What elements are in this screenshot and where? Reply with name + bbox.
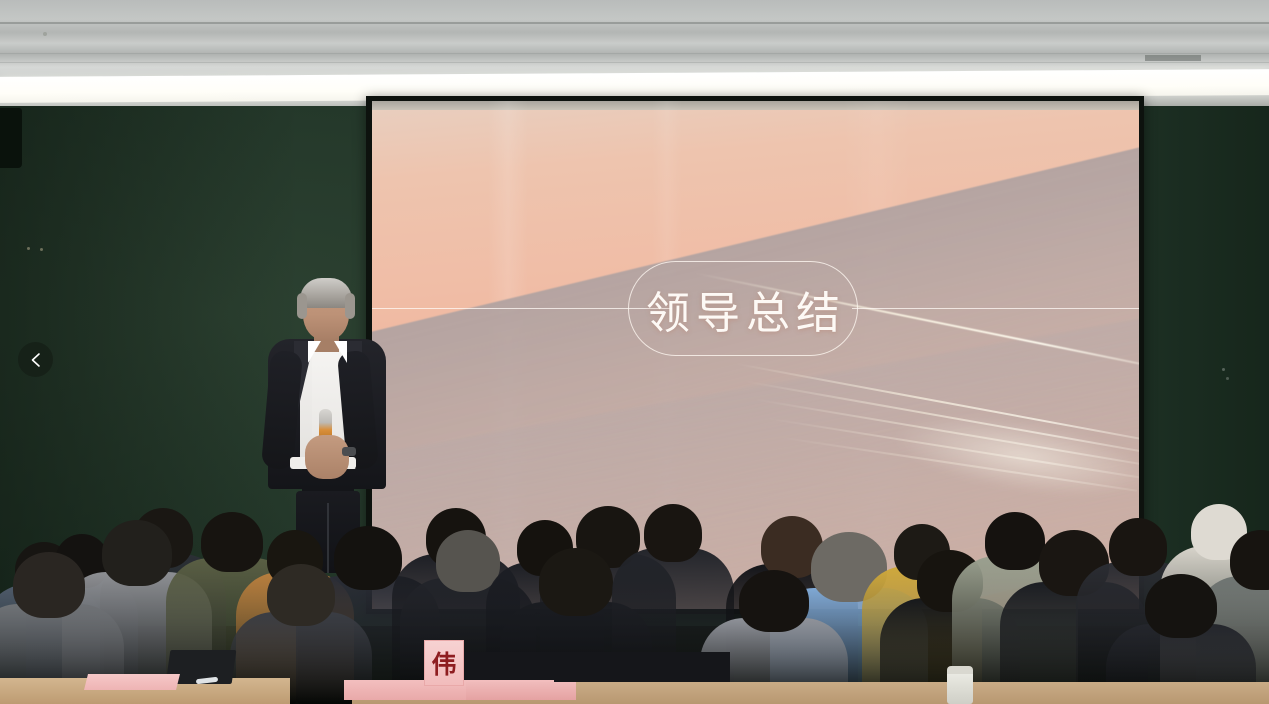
ceiling-fixture-screw — [43, 32, 47, 36]
presenter-collar-right — [334, 341, 347, 363]
front-desk-shadow — [430, 652, 730, 682]
audience-member-head — [644, 504, 702, 562]
ceiling-vent — [1145, 55, 1201, 61]
wall-speaker — [0, 108, 22, 168]
wall-marking — [27, 247, 30, 250]
chevron-left-icon — [29, 352, 43, 368]
name-placard-text: 伟 — [431, 645, 456, 681]
audience-member-head — [267, 564, 335, 626]
ceiling-seam — [0, 62, 1269, 63]
presenter-hair-side-left — [297, 293, 307, 319]
slide-title-rule-left — [372, 308, 672, 309]
photo-viewer-stage: 领导总结 伟 — [0, 0, 1269, 704]
nameplate-row — [466, 682, 576, 700]
thermos-cap — [947, 666, 973, 674]
presenter-hair-side-right — [345, 293, 355, 319]
wall-marking — [1226, 377, 1229, 380]
slide-title-pill: 领导总结 — [628, 261, 858, 356]
audience-member-head — [739, 570, 809, 632]
ceiling-seam — [0, 22, 1269, 24]
slide-title: 领导总结 — [640, 277, 846, 341]
wall-marking — [40, 248, 43, 251]
wall-marking — [1222, 368, 1225, 371]
presenter-collar-left — [308, 341, 321, 363]
audience-member-head — [539, 548, 613, 616]
ceiling-seam — [0, 53, 1269, 54]
audience-member-head — [13, 552, 85, 618]
previous-photo-button[interactable] — [18, 342, 53, 377]
pink-handout — [84, 674, 180, 690]
name-placard: 伟 — [424, 640, 464, 686]
audience-member-head — [1145, 574, 1217, 638]
slide-title-rule-right — [852, 308, 1139, 309]
